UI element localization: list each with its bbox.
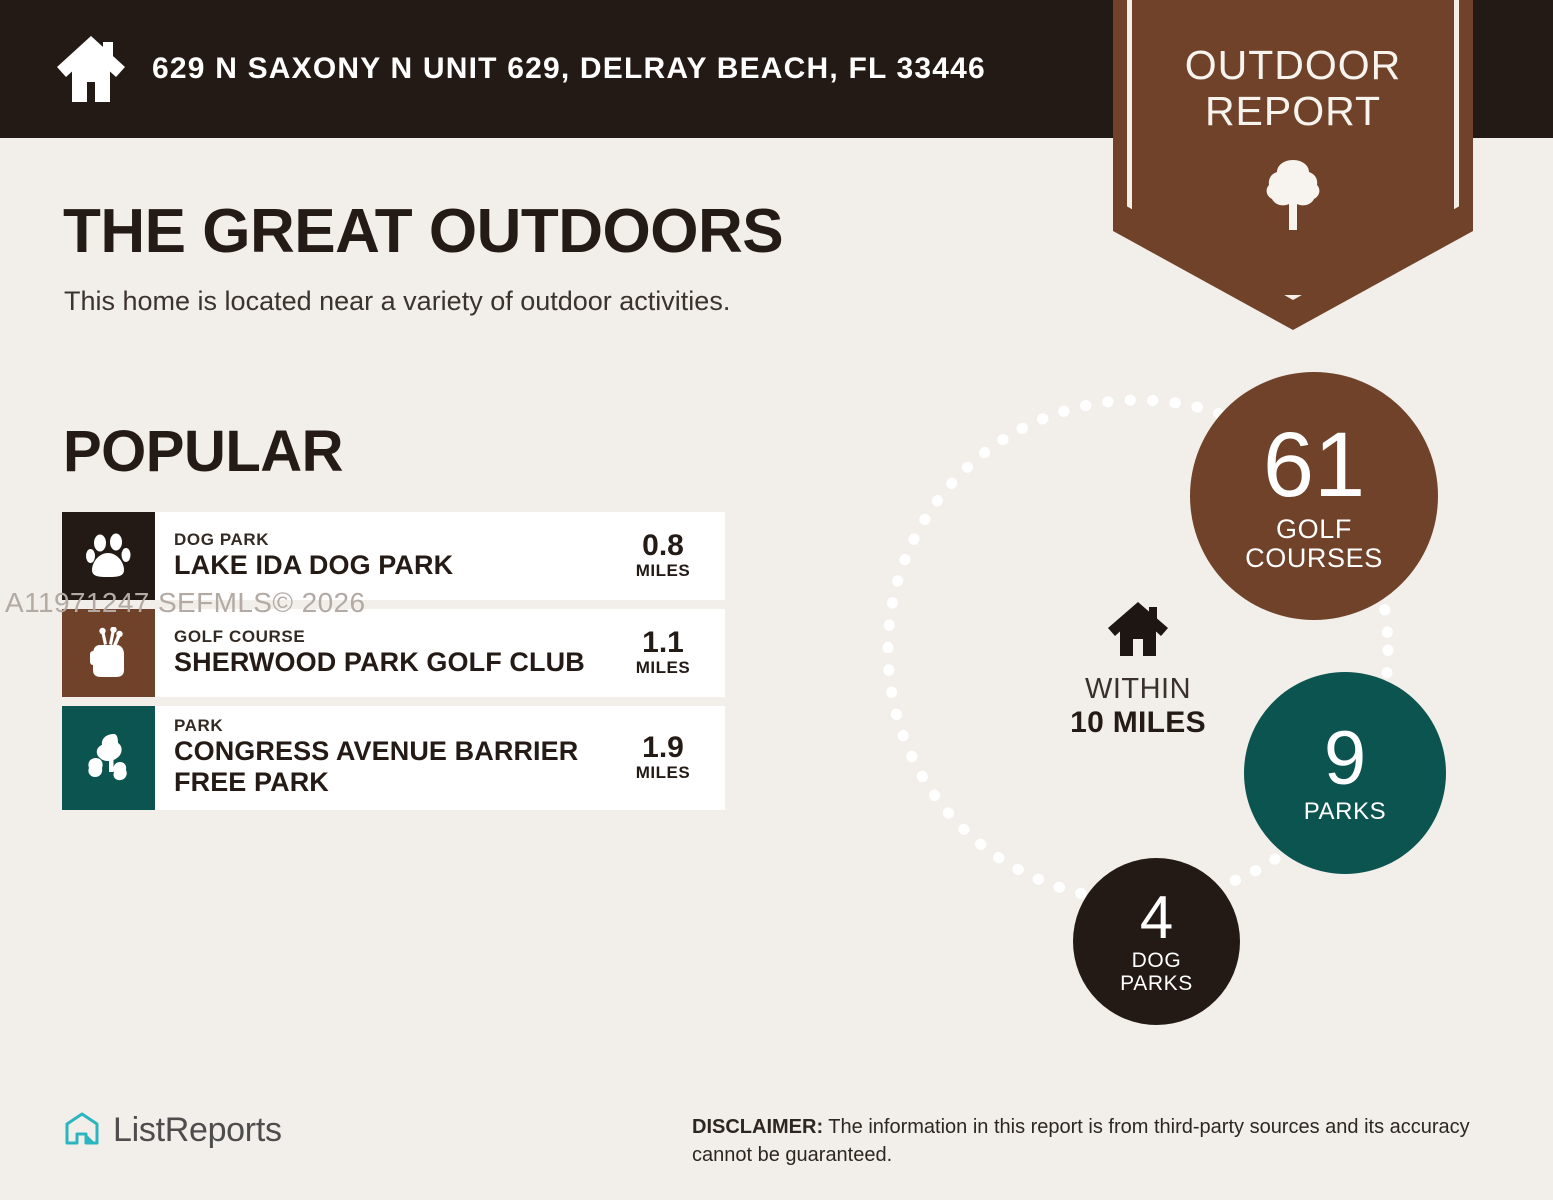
badge-title: OUTDOOR REPORT [1113, 42, 1473, 134]
golf-bag-icon [88, 627, 130, 679]
list-item[interactable]: DOG PARK LAKE IDA DOG PARK 0.8 MILES [62, 512, 725, 600]
list-item-distance-unit: MILES [615, 763, 711, 783]
list-item-category: GOLF COURSE [174, 627, 615, 647]
property-address: 629 N SAXONY N UNIT 629, DELRAY BEACH, F… [152, 52, 986, 86]
disclaimer: DISCLAIMER: The information in this repo… [692, 1113, 1492, 1169]
list-item-text: DOG PARK LAKE IDA DOG PARK [174, 530, 615, 581]
list-item-distance-unit: MILES [615, 561, 711, 581]
stat-label-line1: DOG [1120, 950, 1193, 973]
list-item[interactable]: GOLF COURSE SHERWOOD PARK GOLF CLUB 1.1 … [62, 609, 725, 697]
paw-icon [86, 532, 132, 580]
list-item-name: SHERWOOD PARK GOLF CLUB [174, 647, 615, 678]
house-icon [1106, 600, 1170, 658]
page-title: THE GREAT OUTDOORS [63, 196, 783, 267]
stat-value: 4 [1140, 888, 1173, 948]
list-item[interactable]: PARK CONGRESS AVENUE BARRIER FREE PARK 1… [62, 706, 725, 810]
popular-heading: POPULAR [63, 418, 343, 485]
stat-bubble-dog-parks: 4 DOG PARKS [1073, 858, 1240, 1025]
list-item-text: GOLF COURSE SHERWOOD PARK GOLF CLUB [174, 627, 615, 678]
center-label-line2: 10 MILES [1063, 706, 1213, 740]
list-item-body: DOG PARK LAKE IDA DOG PARK 0.8 MILES [155, 512, 725, 600]
listreports-logo[interactable]: ListReports [62, 1110, 282, 1150]
list-item-name: LAKE IDA DOG PARK [174, 550, 615, 581]
stat-label: DOG PARKS [1120, 950, 1193, 995]
list-item-text: PARK CONGRESS AVENUE BARRIER FREE PARK [174, 716, 615, 798]
stat-label: GOLF COURSES [1245, 515, 1383, 573]
stat-bubble-golf-courses: 61 GOLF COURSES [1190, 372, 1438, 620]
list-item-category: DOG PARK [174, 530, 615, 550]
list-item-icon-tile [62, 609, 155, 697]
list-item-distance-value: 0.8 [615, 530, 711, 561]
stat-label: PARKS [1304, 799, 1387, 825]
list-item-distance-unit: MILES [615, 658, 711, 678]
house-icon [55, 34, 127, 104]
list-item-body: PARK CONGRESS AVENUE BARRIER FREE PARK 1… [155, 706, 725, 810]
stat-label-line1: GOLF [1245, 515, 1383, 544]
list-item-icon-tile [62, 706, 155, 810]
stats-diagram: 61 GOLF COURSES 9 PARKS 4 DOG PARKS [820, 350, 1520, 1030]
list-item-category: PARK [174, 716, 615, 736]
stat-value: 9 [1324, 721, 1366, 797]
disclaimer-label: DISCLAIMER: [692, 1116, 823, 1138]
badge-title-line2: REPORT [1113, 88, 1473, 134]
list-item-distance-value: 1.9 [615, 732, 711, 763]
center-label-line1: WITHIN [1063, 672, 1213, 706]
popular-list: DOG PARK LAKE IDA DOG PARK 0.8 MILES [62, 512, 725, 819]
tree-icon [1263, 158, 1323, 233]
list-item-icon-tile [62, 512, 155, 600]
stat-value: 61 [1263, 419, 1365, 511]
page-subtitle: This home is located near a variety of o… [64, 286, 730, 317]
badge-title-line1: OUTDOOR [1113, 42, 1473, 88]
list-item-distance: 1.9 MILES [615, 732, 725, 783]
list-item-distance: 0.8 MILES [615, 530, 725, 581]
list-item-body: GOLF COURSE SHERWOOD PARK GOLF CLUB 1.1 … [155, 609, 725, 697]
listreports-wordmark: ListReports [113, 1111, 282, 1150]
stat-label-line1: PARKS [1304, 799, 1387, 825]
listreports-house-icon [62, 1110, 102, 1150]
list-item-distance-value: 1.1 [615, 627, 711, 658]
list-item-name: CONGRESS AVENUE BARRIER FREE PARK [174, 736, 615, 798]
stat-bubble-parks: 9 PARKS [1244, 672, 1446, 874]
list-item-distance: 1.1 MILES [615, 627, 725, 678]
outdoor-report-page: 629 N SAXONY N UNIT 629, DELRAY BEACH, F… [0, 0, 1553, 1200]
stat-label-line2: COURSES [1245, 544, 1383, 573]
park-tree-icon [84, 732, 134, 784]
center-radius-marker: WITHIN 10 MILES [1063, 600, 1213, 740]
stat-label-line2: PARKS [1120, 973, 1193, 996]
